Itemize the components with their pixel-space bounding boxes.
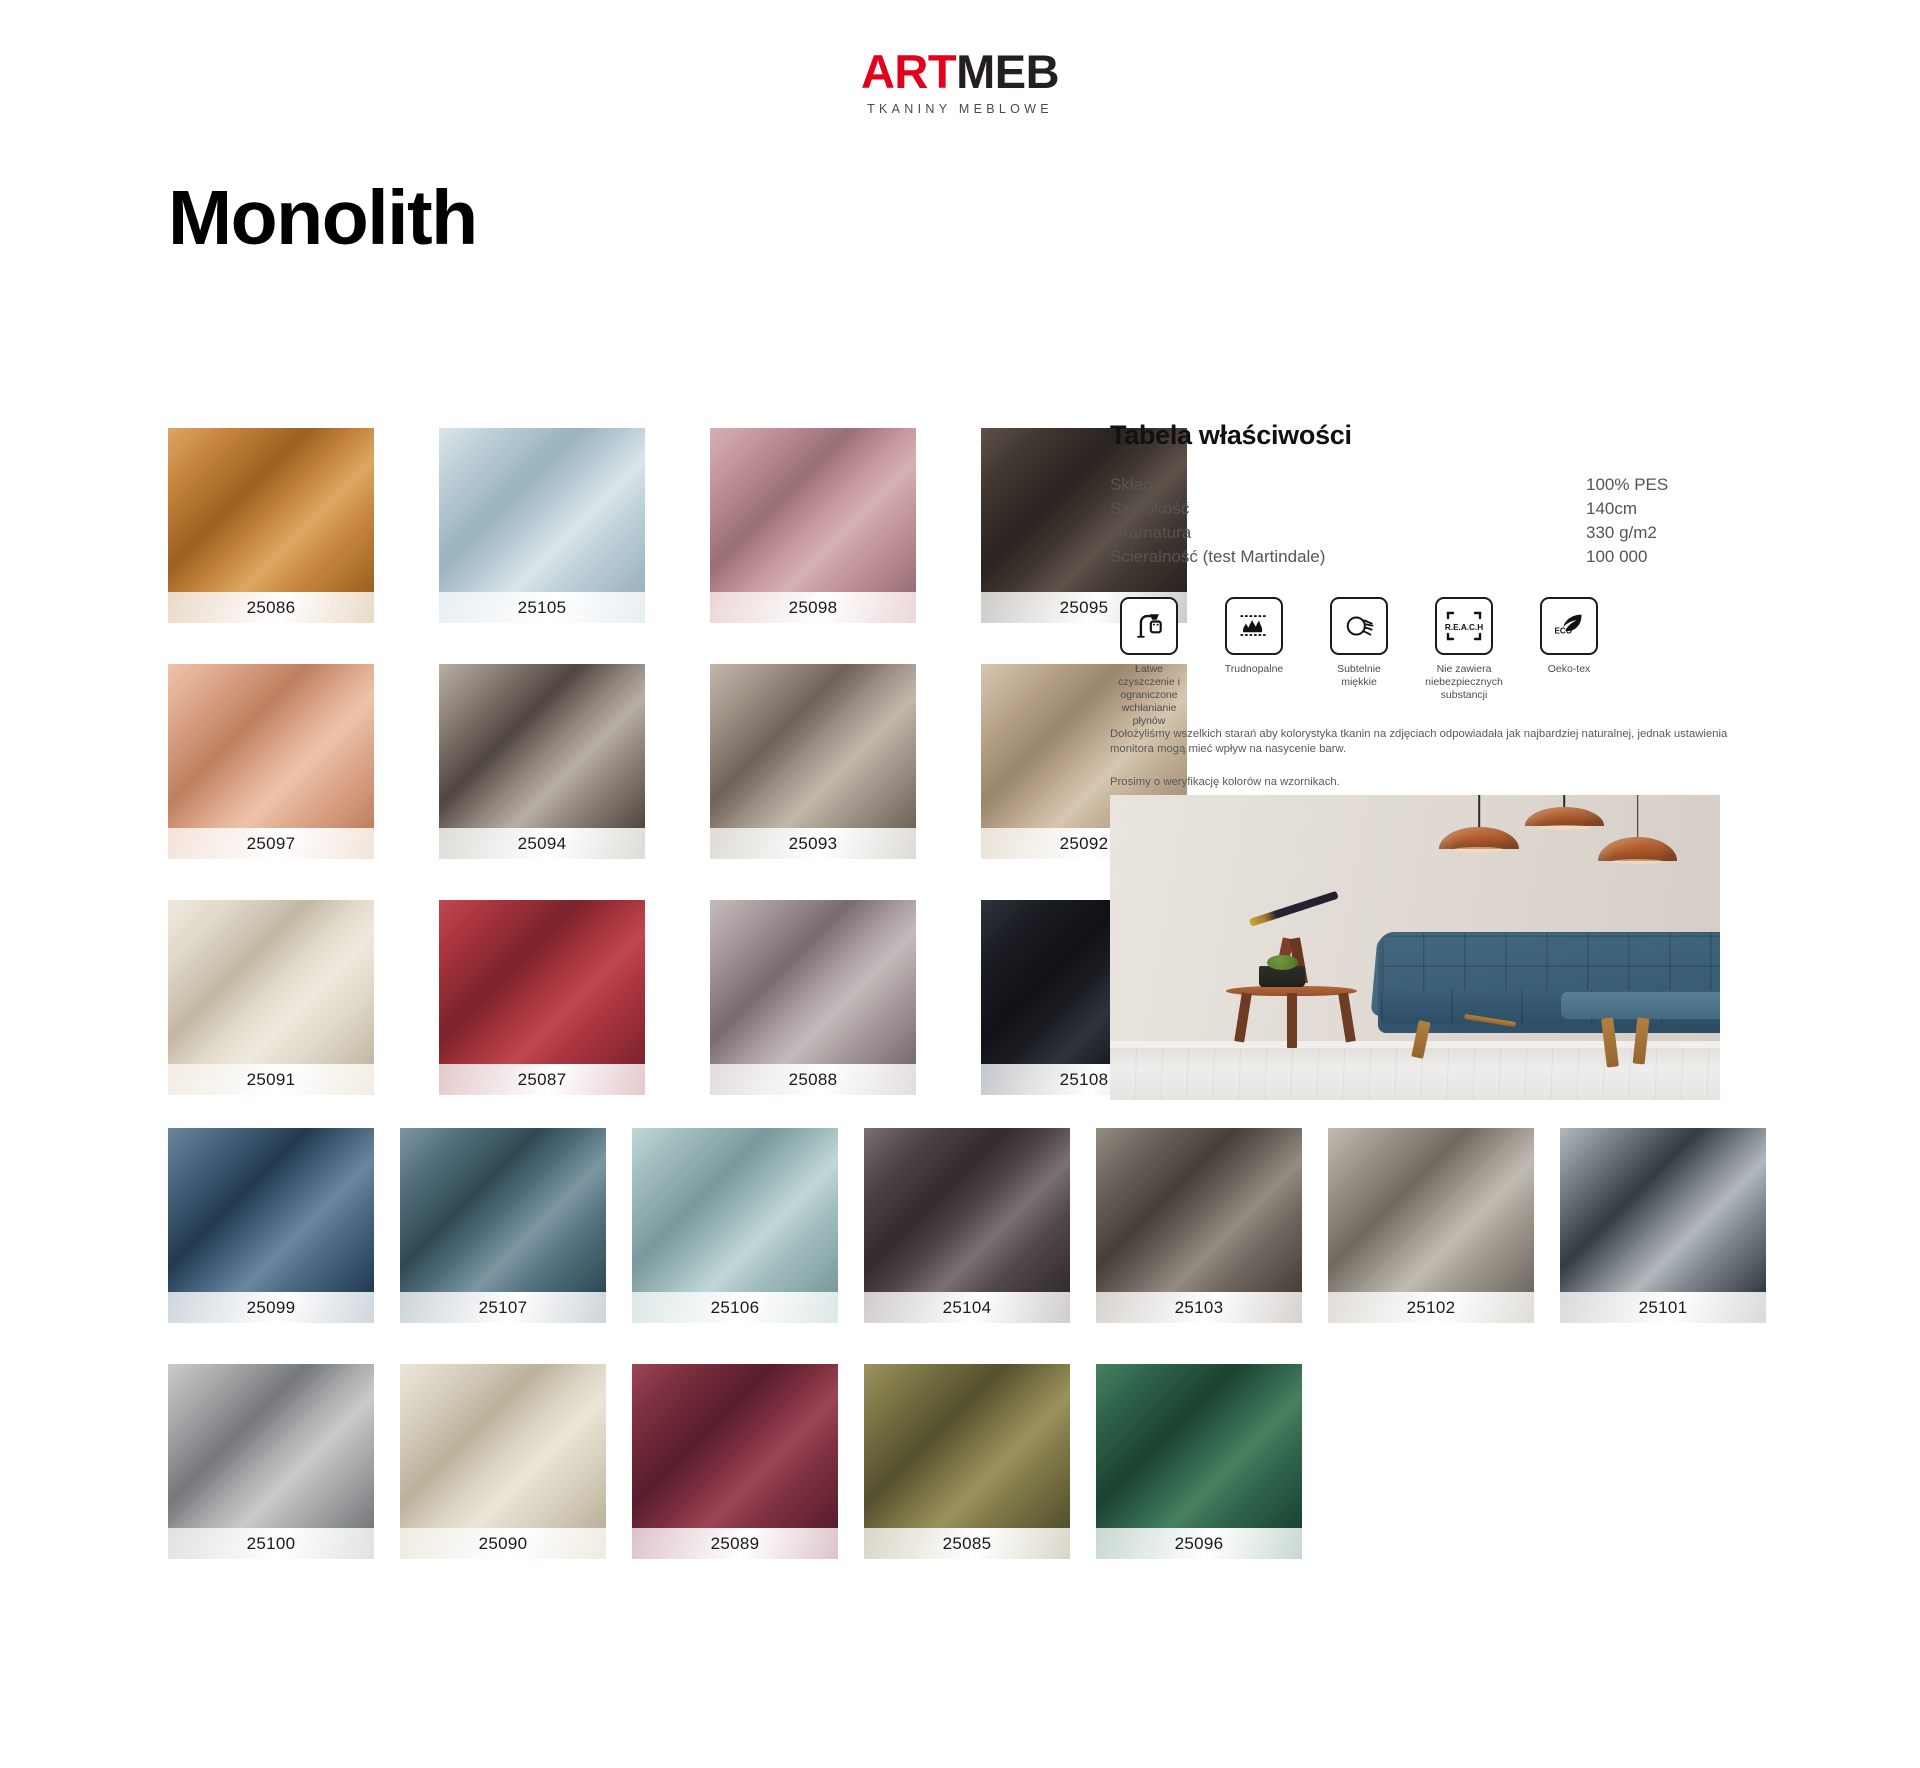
lamp-cord	[1478, 795, 1480, 827]
swatch-grid-wide: 2509925107251062510425103251022510125100…	[168, 1128, 1808, 1600]
fabric-swatch-image	[710, 664, 916, 828]
fabric-swatch-code: 25107	[400, 1292, 606, 1323]
property-row: Szerokość140cm	[1110, 497, 1730, 521]
pendant-lamp-3	[1598, 795, 1677, 887]
property-label: Szerokość	[1110, 497, 1570, 521]
oeko-tex-icon: ECO	[1540, 597, 1598, 655]
lamp-glow	[1454, 847, 1505, 852]
fabric-swatch-image	[710, 428, 916, 592]
property-label: Ścieralność (test Martindale)	[1110, 545, 1570, 569]
lamp-glow	[1612, 859, 1663, 864]
fabric-swatch[interactable]: 25089	[632, 1364, 838, 1559]
lamp-dome	[1439, 827, 1518, 849]
icon-caption: Oeko-tex	[1548, 663, 1591, 676]
fabric-swatch-image	[439, 664, 645, 828]
properties-title: Tabela właściwości	[1110, 420, 1730, 451]
pendant-lamp-1	[1439, 795, 1518, 874]
logo-wordmark: ARTMEB	[861, 48, 1059, 95]
fabric-swatch-code: 25103	[1096, 1292, 1302, 1323]
logo-art-text: ART	[861, 45, 956, 98]
fabric-swatch-code: 25101	[1560, 1292, 1766, 1323]
fabric-swatch-image	[1096, 1364, 1302, 1528]
property-label: Skład	[1110, 473, 1570, 497]
fabric-swatch[interactable]: 25107	[400, 1128, 606, 1323]
fabric-swatch[interactable]: 25101	[1560, 1128, 1766, 1323]
fabric-swatch-code: 25104	[864, 1292, 1070, 1323]
fabric-swatch-code: 25089	[632, 1528, 838, 1559]
lamp-cord	[1564, 795, 1566, 807]
fabric-swatch-code: 25097	[168, 828, 374, 859]
fabric-swatch[interactable]: 25087	[439, 900, 645, 1095]
fabric-swatch-image	[864, 1364, 1070, 1528]
fabric-swatch[interactable]: 25093	[710, 664, 916, 859]
pendant-lamp-2	[1525, 795, 1604, 862]
fabric-swatch-image	[710, 900, 916, 1064]
lamp-cord	[1637, 795, 1639, 837]
fabric-swatch-image	[439, 900, 645, 1064]
fabric-swatch[interactable]: 25085	[864, 1364, 1070, 1559]
property-row: Gramatura330 g/m2	[1110, 521, 1730, 545]
fabric-swatch[interactable]: 25102	[1328, 1128, 1534, 1323]
soft-touch-icon	[1330, 597, 1388, 655]
fabric-swatch[interactable]: 25100	[168, 1364, 374, 1559]
property-row: Ścieralność (test Martindale)100 000	[1110, 545, 1730, 569]
property-value: 100 000	[1570, 545, 1730, 569]
easy-clean-icon-cell: Łatwe czyszczenie i ograniczone wchłania…	[1110, 597, 1188, 728]
fabric-swatch-code: 25087	[439, 1064, 645, 1095]
fabric-swatch[interactable]: 25098	[710, 428, 916, 623]
disclaimer-paragraph-1: Dołożyliśmy wszelkich starań aby kolorys…	[1110, 727, 1735, 757]
fabric-swatch[interactable]: 25090	[400, 1364, 606, 1559]
fabric-swatch-code: 25100	[168, 1528, 374, 1559]
fabric-swatch-code: 25098	[710, 592, 916, 623]
fabric-swatch[interactable]: 25096	[1096, 1364, 1302, 1559]
properties-table: Skład100% PESSzerokość140cmGramatura330 …	[1110, 473, 1730, 569]
fabric-swatch[interactable]: 25099	[168, 1128, 374, 1323]
disclaimer-paragraph-2: Prosimy o weryfikację kolorów na wzornik…	[1110, 775, 1735, 790]
fabric-swatch-code: 25105	[439, 592, 645, 623]
fabric-swatch[interactable]: 25106	[632, 1128, 838, 1323]
fabric-swatch[interactable]: 25097	[168, 664, 374, 859]
swatch-row: 2510025090250892508525096	[168, 1364, 1808, 1559]
property-label: Gramatura	[1110, 521, 1570, 545]
lamp-dome	[1525, 807, 1604, 826]
sofa-backrest	[1382, 933, 1720, 997]
feature-icon-strip: Łatwe czyszczenie i ograniczone wchłania…	[1110, 597, 1730, 728]
icon-caption: Subtelnie miękkie	[1320, 663, 1398, 689]
fabric-swatch-code: 25085	[864, 1528, 1070, 1559]
fabric-swatch[interactable]: 25104	[864, 1128, 1070, 1323]
coffee-table-leg	[1287, 993, 1297, 1048]
fabric-swatch-image	[632, 1128, 838, 1292]
swatch-row: 25099251072510625104251032510225101	[168, 1128, 1808, 1323]
fabric-swatch-image	[168, 664, 374, 828]
fabric-swatch-image	[1560, 1128, 1766, 1292]
fabric-swatch-image	[632, 1364, 838, 1528]
fabric-swatch[interactable]: 25094	[439, 664, 645, 859]
fabric-swatch[interactable]: 25091	[168, 900, 374, 1095]
fabric-swatch[interactable]: 25088	[710, 900, 916, 1095]
reach-icon-cell: R.E.A.C.HNie zawiera niebezpiecznych sub…	[1425, 597, 1503, 728]
logo-tagline: TKANINY MEBLOWE	[867, 102, 1053, 116]
interior-photo	[1110, 795, 1720, 1100]
property-value: 140cm	[1570, 497, 1730, 521]
icon-caption: Trudnopalne	[1225, 663, 1284, 676]
properties-panel: Tabela właściwości Skład100% PESSzerokoś…	[1110, 420, 1730, 728]
lamp-glow	[1539, 825, 1590, 830]
fabric-swatch-image	[439, 428, 645, 592]
fabric-swatch-code: 25102	[1328, 1292, 1534, 1323]
fabric-swatch-code: 25090	[400, 1528, 606, 1559]
fabric-swatch-code: 25099	[168, 1292, 374, 1323]
soft-touch-icon-cell: Subtelnie miękkie	[1320, 597, 1398, 728]
oeko-tex-icon-cell: ECOOeko-tex	[1530, 597, 1608, 728]
fabric-swatch[interactable]: 25086	[168, 428, 374, 623]
icon-caption: Nie zawiera niebezpiecznych substancji	[1425, 663, 1503, 702]
fabric-swatch-code: 25106	[632, 1292, 838, 1323]
logo-meb-text: MEB	[956, 45, 1059, 98]
fabric-swatch-image	[1328, 1128, 1534, 1292]
fabric-swatch-code: 25091	[168, 1064, 374, 1095]
fabric-swatch-code: 25088	[710, 1064, 916, 1095]
svg-text:ECO: ECO	[1555, 627, 1572, 636]
flame-retardant-icon	[1225, 597, 1283, 655]
fabric-swatch-image	[1096, 1128, 1302, 1292]
svg-text:R.E.A.C.H: R.E.A.C.H	[1445, 623, 1483, 632]
reach-icon: R.E.A.C.H	[1435, 597, 1493, 655]
lamp-dome	[1598, 837, 1677, 861]
property-value: 100% PES	[1570, 473, 1730, 497]
fabric-swatch-image	[864, 1128, 1070, 1292]
fabric-swatch-image	[168, 428, 374, 592]
fabric-swatch-image	[400, 1128, 606, 1292]
property-row: Skład100% PES	[1110, 473, 1730, 497]
page-title: Monolith	[168, 180, 477, 257]
property-value: 330 g/m2	[1570, 521, 1730, 545]
fabric-swatch-image	[168, 1364, 374, 1528]
sofa-bench	[1561, 992, 1720, 1019]
easy-clean-icon	[1120, 597, 1178, 655]
fabric-swatch[interactable]: 25105	[439, 428, 645, 623]
brand-logo: ARTMEB TKANINY MEBLOWE	[0, 0, 1920, 116]
fabric-swatch-image	[168, 900, 374, 1064]
color-disclaimer: Dołożyliśmy wszelkich starań aby kolorys…	[1110, 727, 1735, 790]
fabric-swatch-image	[400, 1364, 606, 1528]
fabric-swatch-code: 25093	[710, 828, 916, 859]
fabric-swatch-code: 25086	[168, 592, 374, 623]
fabric-swatch[interactable]: 25103	[1096, 1128, 1302, 1323]
flame-retardant-icon-cell: Trudnopalne	[1215, 597, 1293, 728]
fabric-swatch-code: 25094	[439, 828, 645, 859]
icon-caption: Łatwe czyszczenie i ograniczone wchłania…	[1110, 663, 1188, 728]
fabric-swatch-code: 25096	[1096, 1528, 1302, 1559]
fabric-swatch-image	[168, 1128, 374, 1292]
